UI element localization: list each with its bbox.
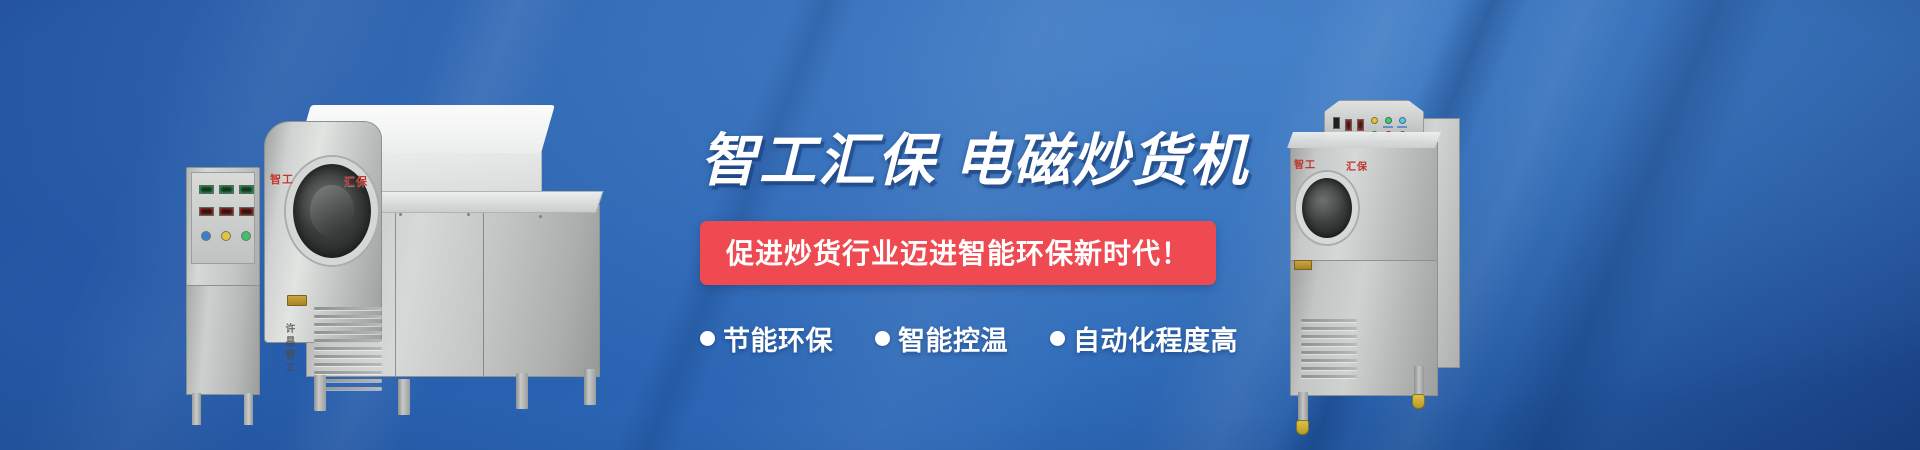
knob-emergency-stop — [221, 231, 231, 241]
roaster-vent-grille — [314, 307, 400, 393]
feature-item-smart-temperature: 智能控温 — [875, 319, 1008, 358]
roaster-control-base — [186, 285, 260, 395]
display-green-1 — [199, 185, 214, 194]
feature-label: 智能控温 — [898, 319, 1008, 358]
roaster-foot — [398, 379, 410, 415]
bullet-dot-icon — [875, 331, 890, 346]
roaster-upper-top — [1287, 132, 1441, 148]
switch-red-1 — [1345, 119, 1352, 131]
feature-label: 节能环保 — [723, 319, 833, 358]
roaster-leg — [1414, 366, 1424, 396]
button-green-1 — [1385, 117, 1392, 124]
button-cyan — [1399, 117, 1406, 124]
bullet-dot-icon — [700, 331, 715, 346]
page-title: 智工汇保 电磁炒货机 — [700, 128, 1300, 195]
caster-wheel — [1296, 420, 1309, 435]
knob-green — [241, 231, 251, 241]
knob-blue — [201, 231, 211, 241]
banner-copy-block: 智工汇保 电磁炒货机 促进炒货行业迈进智能环保新时代！ 节能环保 智能控温 自动… — [700, 128, 1300, 358]
roaster-foot — [584, 369, 596, 405]
switch-red-2 — [1357, 119, 1364, 131]
roaster-drum-opening — [1296, 172, 1358, 244]
machine-brand-right: 汇保 — [1346, 158, 1368, 173]
roaster-leg — [1298, 392, 1308, 422]
button-emergency-stop — [1371, 117, 1378, 124]
feature-label: 自动化程度高 — [1073, 319, 1238, 358]
promotional-banner: 智工 汇保 许昌智工 — [0, 0, 1920, 450]
feature-item-automation: 自动化程度高 — [1050, 319, 1238, 358]
display-red-2 — [219, 207, 234, 216]
display-green-3 — [239, 185, 254, 194]
roaster-foot — [516, 373, 528, 409]
roaster-drum-interior — [310, 185, 354, 238]
feature-list: 节能环保 智能控温 自动化程度高 — [700, 319, 1300, 358]
tagline-badge: 促进炒货行业迈进智能环保新时代！ — [700, 221, 1216, 285]
display-green-2 — [219, 185, 234, 194]
machine-nameplate — [287, 295, 307, 306]
bullet-dot-icon — [1050, 331, 1065, 346]
roaster-control-leg — [192, 393, 201, 425]
product-image-left-roaster: 智工 汇保 许昌智工 — [186, 95, 656, 395]
display-red-3 — [239, 207, 254, 216]
machine-brand-left: 智工 — [270, 171, 294, 187]
display-red-1 — [199, 207, 214, 216]
feature-item-energy-saving: 节能环保 — [700, 319, 833, 358]
caster-wheel — [1412, 394, 1425, 409]
machine-vertical-text: 许昌智工 — [281, 323, 296, 375]
roaster-foot — [314, 375, 326, 411]
roaster-control-leg — [244, 393, 253, 425]
switch-black — [1333, 117, 1340, 129]
machine-brand-right: 汇保 — [344, 173, 368, 189]
product-image-right-roaster: 智工 汇保 — [1290, 100, 1480, 410]
roaster-control-panel — [191, 172, 255, 264]
